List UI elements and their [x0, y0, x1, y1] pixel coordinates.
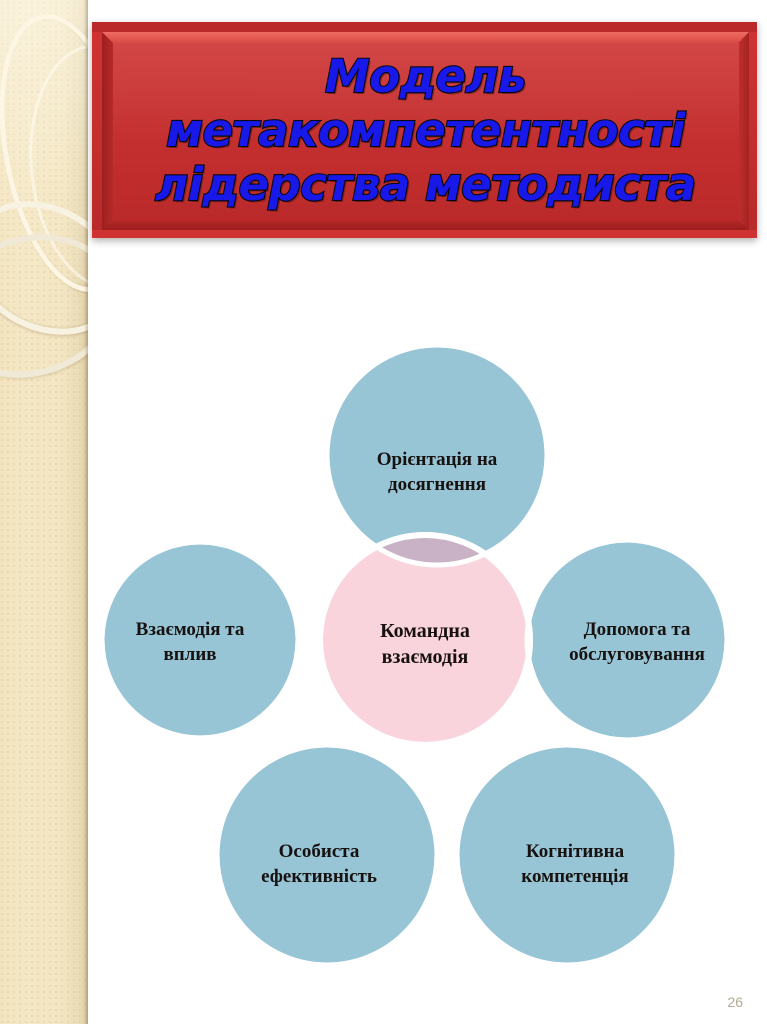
banner-bevel-right	[739, 32, 749, 230]
decorative-sidebar-band	[0, 0, 88, 1024]
venn-diagram-svg	[88, 300, 767, 1000]
banner-bevel-left	[102, 32, 113, 230]
page-number: 26	[727, 994, 743, 1010]
slide-canvas: Модель метакомпетентності лідерства мето…	[0, 0, 767, 1024]
page-title: Модель метакомпетентності лідерства мето…	[145, 50, 706, 212]
title-banner: Модель метакомпетентності лідерства мето…	[92, 22, 757, 238]
banner-bevel-top	[102, 32, 749, 43]
venn-diagram: Орієнтація на досягненняДопомога та обсл…	[88, 300, 767, 1000]
banner-bevel-bottom	[102, 221, 749, 230]
